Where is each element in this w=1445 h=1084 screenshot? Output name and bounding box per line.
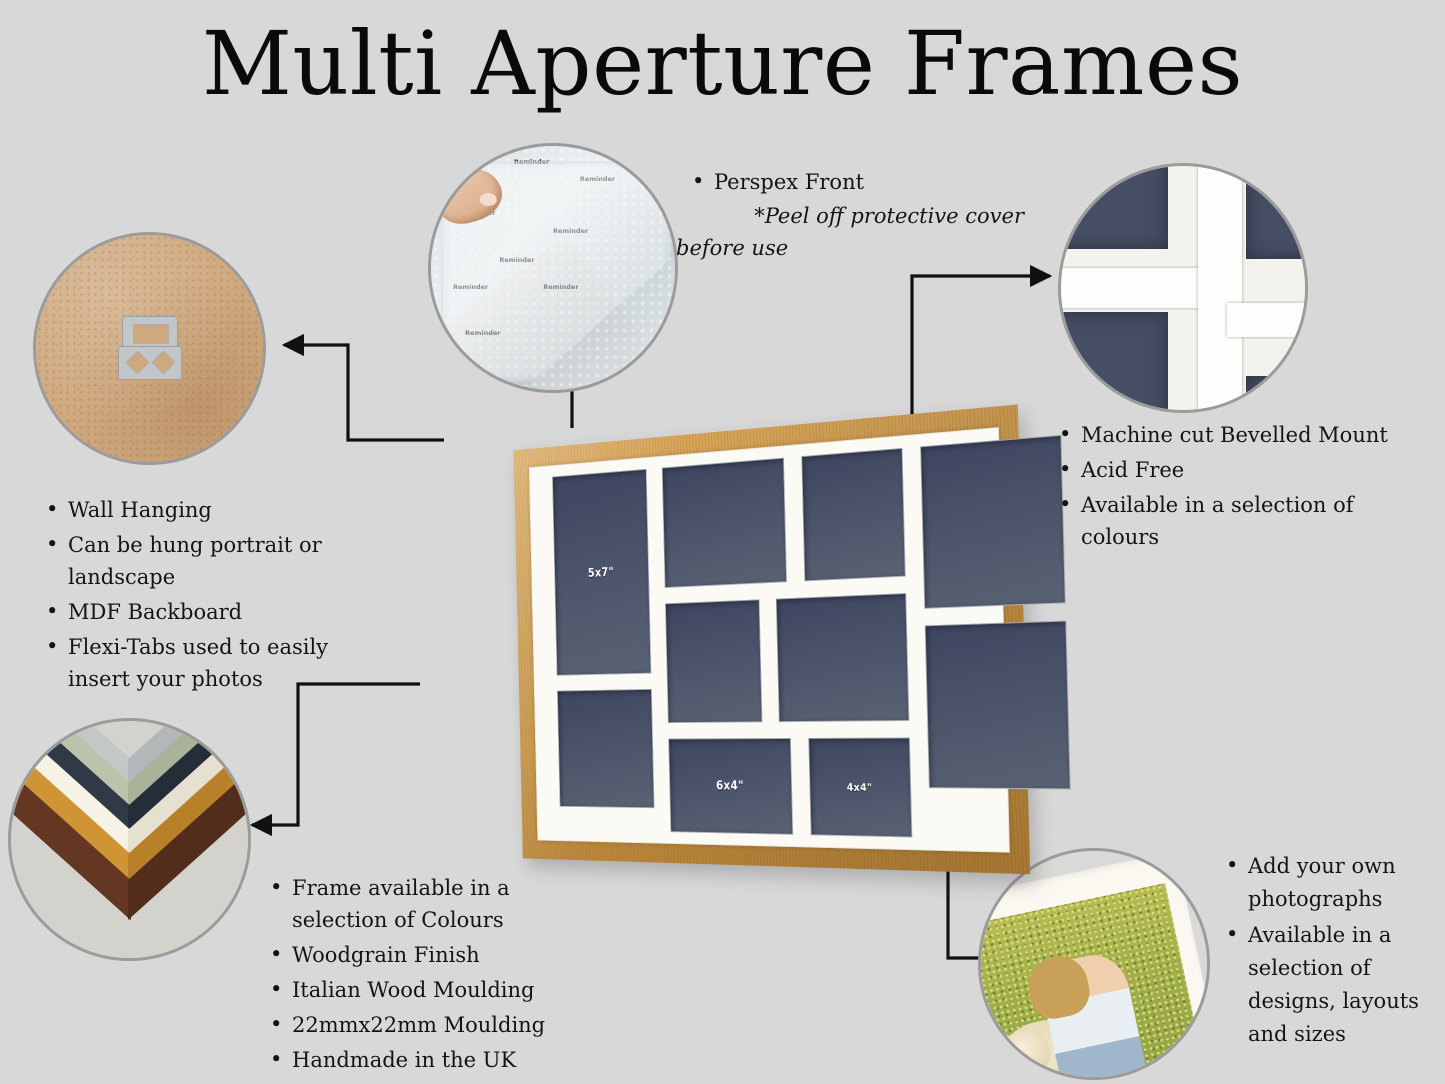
bullet-item: Add your own photographs (1222, 850, 1432, 916)
bullet-item: Flexi-Tabs used to easily insert your ph… (42, 631, 372, 695)
bullet-item: 22mmx22mm Moulding (266, 1009, 576, 1041)
bullet-item: Frame available in a selection of Colour… (266, 872, 576, 936)
bullet-item: Available in a selection of colours (1055, 489, 1395, 553)
aperture-size-label: 4x4" (847, 781, 873, 794)
aperture-size-label: 6x4" (716, 779, 744, 793)
poster-canvas: Multi Aperture Frames Remi (0, 0, 1445, 1084)
main-frame-photo: 5x7" 6x4" 4x4" (404, 404, 1064, 904)
bullet-item: Perspex Front (688, 166, 1033, 198)
frame-mount: 5x7" 6x4" 4x4" (529, 427, 1010, 853)
bevel-closeup (1061, 166, 1305, 410)
wall-hanger-icon (118, 316, 182, 382)
callout-mount: Machine cut Bevelled Mount Acid Free Ava… (1055, 419, 1395, 556)
connector-frame-to-colours (252, 684, 420, 825)
frame-moulding: 5x7" 6x4" 4x4" (514, 404, 1031, 874)
aperture-2 (662, 457, 787, 587)
callout-backboard: Wall Hanging Can be hung portrait or lan… (42, 494, 372, 698)
bullet-item: Acid Free (1055, 454, 1395, 486)
bullet-item: Available in a selection of designs, lay… (1222, 919, 1432, 1051)
inset-perspex-film: Reminder Reminder Reminder Reminder Remi… (428, 143, 678, 393)
aperture-8 (557, 689, 655, 809)
callout-photos: Add your own photographs Available in a … (1222, 850, 1432, 1054)
bullet-item: MDF Backboard (42, 596, 372, 628)
protective-film: Reminder Reminder Reminder Reminder Remi… (431, 146, 675, 390)
page-title: Multi Aperture Frames (0, 14, 1445, 114)
aperture-3 (801, 448, 906, 581)
inset-mdf-backboard (33, 232, 266, 465)
bullet-item: Can be hung portrait or landscape (42, 529, 372, 593)
bullet-item: Wall Hanging (42, 494, 372, 526)
aperture-1: 5x7" (552, 469, 651, 676)
perspex-note-line-1: *Peel off protective cover (676, 200, 1024, 232)
multi-aperture-frame: 5x7" 6x4" 4x4" (514, 404, 1031, 874)
mount-bar-right (1227, 303, 1305, 337)
callout-perspex-note: *Peel off protective cover before use (676, 200, 1024, 264)
aperture-5 (665, 599, 762, 723)
bullet-item: Italian Wood Moulding (266, 974, 576, 1006)
perspex-note-line-2: before use (676, 232, 1024, 264)
callout-colours: Frame available in a selection of Colour… (266, 872, 576, 1079)
bullet-item: Machine cut Bevelled Mount (1055, 419, 1395, 451)
bullet-item: Handmade in the UK (266, 1044, 576, 1076)
aperture-10: 4x4" (808, 738, 912, 838)
mount-bar-vertical (1198, 166, 1242, 410)
bullet-item: Woodgrain Finish (266, 939, 576, 971)
inset-bevelled-mount (1058, 163, 1308, 413)
aperture-4 (920, 435, 1066, 609)
inset-frame-colours (8, 718, 251, 961)
aperture-6 (776, 593, 910, 723)
aperture-7 (925, 620, 1071, 789)
aperture-9: 6x4" (668, 738, 793, 835)
colour-chevrons (11, 721, 248, 958)
aperture-size-label: 5x7" (588, 566, 614, 581)
callout-perspex: Perspex Front (688, 166, 1033, 201)
